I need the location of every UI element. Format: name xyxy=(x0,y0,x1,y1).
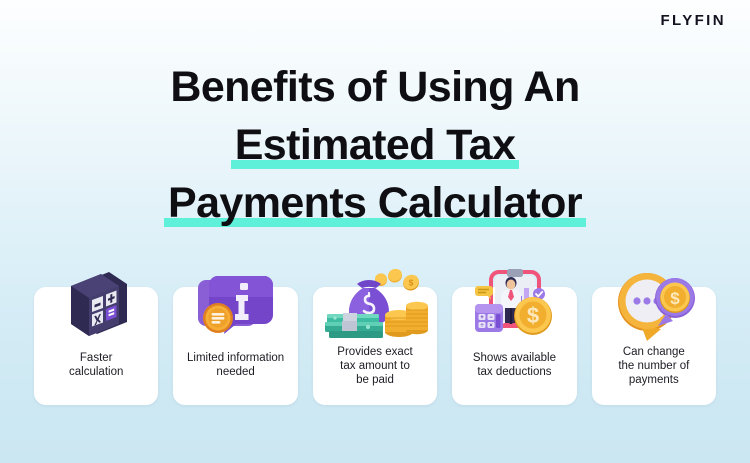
svg-text:÷: ÷ xyxy=(481,323,485,329)
headline-line-1-text: Benefits of Using An xyxy=(168,58,581,116)
page-title: Benefits of Using An Estimated Tax Payme… xyxy=(0,58,750,232)
benefit-card-label: Shows available tax deductions xyxy=(467,351,562,379)
svg-text:$: $ xyxy=(527,303,539,328)
benefit-card-limited-information[interactable]: Limited information needed xyxy=(173,287,297,405)
benefits-card-list: Faster calculation xyxy=(34,287,716,405)
infographic-page: FLYFIN Benefits of Using An Estimated Ta… xyxy=(0,0,750,463)
benefit-card-label: Provides exact tax amount to be paid xyxy=(331,345,418,387)
benefit-card-change-payments[interactable]: $ Can change the number of payments xyxy=(592,287,716,405)
svg-text:−: − xyxy=(490,315,494,321)
benefit-card-label: Faster calculation xyxy=(63,351,129,379)
chat-bubbles-dollar-icon: $ xyxy=(592,267,716,345)
info-speech-bubble-icon xyxy=(173,267,297,345)
benefit-card-label: Limited information needed xyxy=(181,351,290,379)
money-bag-cash-coins-icon: $ xyxy=(313,267,437,345)
benefit-card-label: Can change the number of payments xyxy=(612,345,695,387)
benefit-card-faster-calculation[interactable]: Faster calculation xyxy=(34,287,158,405)
svg-text:$: $ xyxy=(670,289,680,308)
headline-line-3-text: Payments Calculator xyxy=(166,174,584,232)
clipboard-person-chart-icon: + − ÷ × $ xyxy=(452,267,576,345)
headline-line-2-text: Estimated Tax xyxy=(233,116,518,174)
calculator-icon xyxy=(34,267,158,345)
benefit-card-tax-deductions[interactable]: + − ÷ × $ Shows available tax deductions xyxy=(452,287,576,405)
headline-line-3: Payments Calculator xyxy=(0,174,750,232)
headline-line-2: Estimated Tax xyxy=(0,116,750,174)
svg-text:$: $ xyxy=(409,279,414,288)
flyfin-logo: FLYFIN xyxy=(660,13,726,28)
benefit-card-exact-tax-amount[interactable]: $ xyxy=(313,287,437,405)
svg-text:×: × xyxy=(490,323,494,329)
svg-text:+: + xyxy=(481,315,485,321)
headline-line-1: Benefits of Using An xyxy=(0,58,750,116)
